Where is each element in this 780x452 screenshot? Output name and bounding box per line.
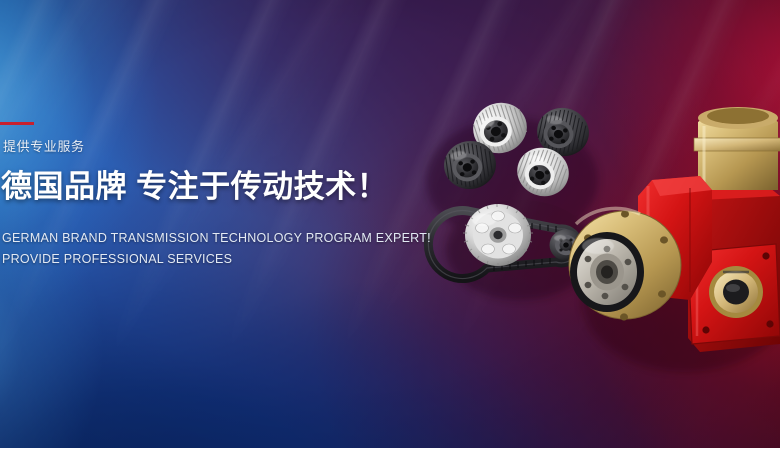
banner-subtitle-line-2: PROVIDE PROFESSIONAL SERVICES <box>2 251 232 267</box>
banner-copy-block: 提供专业服务 德国品牌 专注于传动技术！ GERMAN BRAND TRANSM… <box>0 0 400 448</box>
banner-subtitle-line-1: GERMAN BRAND TRANSMISSION TECHNOLOGY PRO… <box>2 230 431 246</box>
banner-headline: 德国品牌 专注于传动技术！ <box>1 168 388 206</box>
banner-eyebrow: 提供专业服务 <box>3 138 85 156</box>
hero-banner: 提供专业服务 德国品牌 专注于传动技术！ GERMAN BRAND TRANSM… <box>0 0 780 452</box>
accent-rule <box>0 122 34 125</box>
